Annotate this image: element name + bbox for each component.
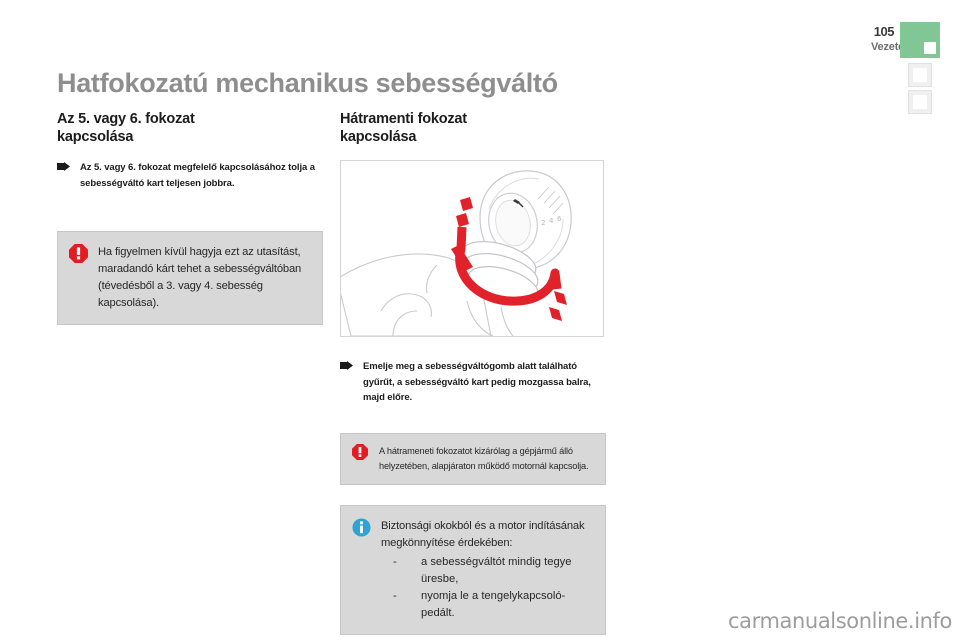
pointer-hand-icon xyxy=(57,162,71,171)
right-instruction-bullet: Emelje meg a sebességváltógomb alatt tal… xyxy=(340,359,606,405)
list-dash: - xyxy=(393,554,397,571)
list-item: - nyomja le a tengelykapcsoló-pedált. xyxy=(381,588,593,622)
list-item: - a sebességváltót mindig tegye üresbe, xyxy=(381,554,593,588)
list-item-text: nyomja le a tengelykapcsoló-pedált. xyxy=(421,590,565,619)
right-info-list: - a sebességváltót mindig tegye üresbe, … xyxy=(381,554,593,622)
left-instruction-bullet: Az 5. vagy 6. fokozat megfelelő kapcsolá… xyxy=(57,160,323,191)
left-instruction-text: Az 5. vagy 6. fokozat megfelelő kapcsolá… xyxy=(80,162,315,188)
list-item-text: a sebességváltót mindig tegye üresbe, xyxy=(421,556,572,585)
svg-text:6: 6 xyxy=(557,215,562,223)
svg-text:4: 4 xyxy=(549,217,554,225)
red-exclamation-icon xyxy=(352,444,368,460)
page-title: Hatfokozatú mechanikus sebességváltó xyxy=(57,68,558,99)
chapter-tab-square-1-inner-icon xyxy=(913,68,927,82)
page-number: 105 xyxy=(874,24,894,39)
chapter-tab-square-2-inner-icon xyxy=(913,95,927,109)
right-column: Hátramenti fokozat kapcsolása xyxy=(340,110,606,635)
right-warning-box: A hátrameneti fokozatot kizárólag a gépj… xyxy=(340,433,606,484)
blue-information-icon xyxy=(352,518,371,537)
right-info-text: Biztonsági okokból és a motor indításána… xyxy=(381,518,593,552)
red-exclamation-icon xyxy=(69,244,88,263)
chapter-tab-square-2 xyxy=(908,90,932,114)
chapter-tab-indicator xyxy=(900,22,940,58)
chapter-tab-dot-icon xyxy=(924,42,936,54)
right-instruction-text: Emelje meg a sebességváltógomb alatt tal… xyxy=(363,361,591,403)
svg-text:2: 2 xyxy=(541,219,545,227)
left-warning-box: Ha figyelmen kívül hagyja ezt az utasítá… xyxy=(57,231,323,325)
pointer-hand-icon xyxy=(340,361,354,370)
list-dash: - xyxy=(393,588,397,605)
left-column: Az 5. vagy 6. fokozat kapcsolása Az 5. v… xyxy=(57,110,323,325)
site-watermark: carmanualsonline.info xyxy=(728,609,952,633)
right-section-heading: Hátramenti fokozat kapcsolása xyxy=(340,110,606,146)
gear-shift-knob-illustration: 2 4 6 xyxy=(340,160,604,337)
right-warning-text: A hátrameneti fokozatot kizárólag a gépj… xyxy=(379,444,595,473)
chapter-tab-square-1 xyxy=(908,63,932,87)
left-section-heading: Az 5. vagy 6. fokozat kapcsolása xyxy=(57,110,323,146)
right-info-box: Biztonsági okokból és a motor indításána… xyxy=(340,505,606,635)
left-warning-text: Ha figyelmen kívül hagyja ezt az utasítá… xyxy=(98,244,310,312)
manual-page: 105 Vezetés Hatfokozatú mechanikus sebes… xyxy=(0,0,960,640)
